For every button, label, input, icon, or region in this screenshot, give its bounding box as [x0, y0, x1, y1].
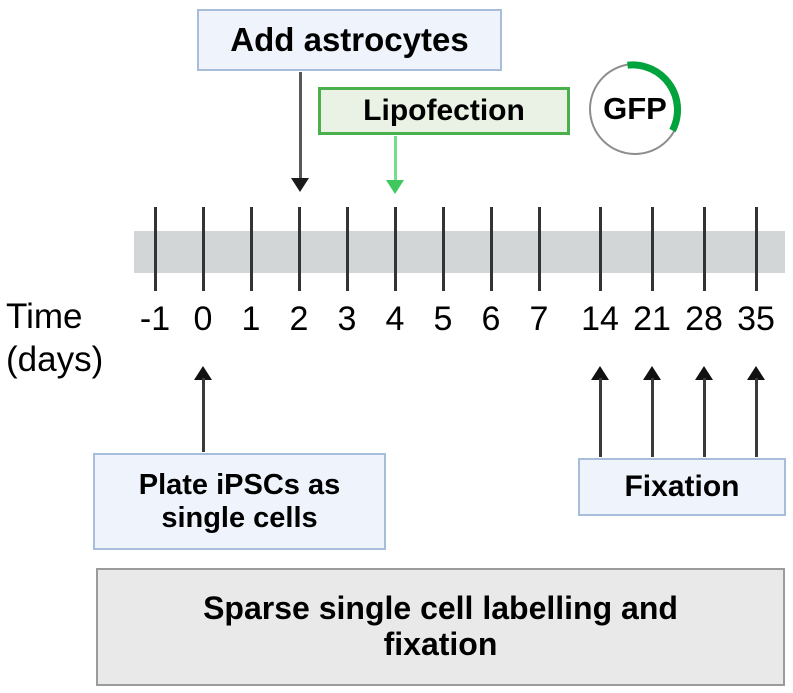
tick-day-14 — [599, 207, 602, 291]
time-axis-label-line1: Time — [6, 296, 134, 339]
experimental-timeline-diagram: Add astrocytes Lipofection GFP -1 0 1 2 … — [0, 0, 793, 693]
tick-day-6 — [490, 207, 493, 291]
time-axis-label: Time (days) — [6, 296, 134, 381]
tick-day-28 — [703, 207, 706, 291]
tick-day--1 — [154, 207, 157, 291]
tick-day-35 — [755, 207, 758, 291]
arrow-shaft — [703, 378, 706, 457]
callout-lipofection: Lipofection — [318, 87, 570, 135]
tick-day-3 — [346, 207, 349, 291]
tick-day-7 — [538, 207, 541, 291]
summary-label-line1: Sparse single cell labelling and — [203, 591, 678, 627]
timeline-band — [134, 231, 785, 273]
tick-day-0 — [202, 207, 205, 291]
arrow-shaft — [599, 378, 602, 457]
gfp-label: GFP — [583, 57, 687, 161]
callout-plate-ipscs: Plate iPSCs as single cells — [93, 453, 386, 550]
plate-ipscs-label-line1: Plate iPSCs as — [139, 469, 341, 501]
arrow-shaft — [394, 136, 397, 182]
day-label-21: 21 — [624, 300, 680, 339]
plate-ipscs-label-line2: single cells — [139, 502, 341, 534]
summary-label-line2: fixation — [203, 627, 678, 663]
callout-add-astrocytes: Add astrocytes — [197, 9, 502, 71]
callout-summary: Sparse single cell labelling and fixatio… — [96, 568, 785, 686]
arrow-shaft — [202, 378, 205, 452]
day-label-14: 14 — [572, 300, 628, 339]
gfp-plasmid-circle: GFP — [583, 57, 687, 161]
arrow-shaft — [651, 378, 654, 457]
tick-day-4 — [394, 207, 397, 291]
tick-day-2 — [298, 207, 301, 291]
day-label-28: 28 — [676, 300, 732, 339]
arrow-head — [386, 180, 404, 194]
day-label-35: 35 — [728, 300, 784, 339]
arrow-head — [291, 178, 309, 192]
day-label-7: 7 — [511, 300, 567, 339]
lipofection-label: Lipofection — [363, 94, 525, 128]
fixation-label: Fixation — [624, 470, 739, 504]
arrow-shaft — [299, 72, 302, 178]
tick-day-1 — [250, 207, 253, 291]
time-axis-label-line2: (days) — [6, 339, 134, 382]
callout-fixation: Fixation — [578, 458, 786, 516]
add-astrocytes-label: Add astrocytes — [230, 22, 468, 59]
tick-day-5 — [442, 207, 445, 291]
arrow-shaft — [755, 378, 758, 457]
tick-day-21 — [651, 207, 654, 291]
